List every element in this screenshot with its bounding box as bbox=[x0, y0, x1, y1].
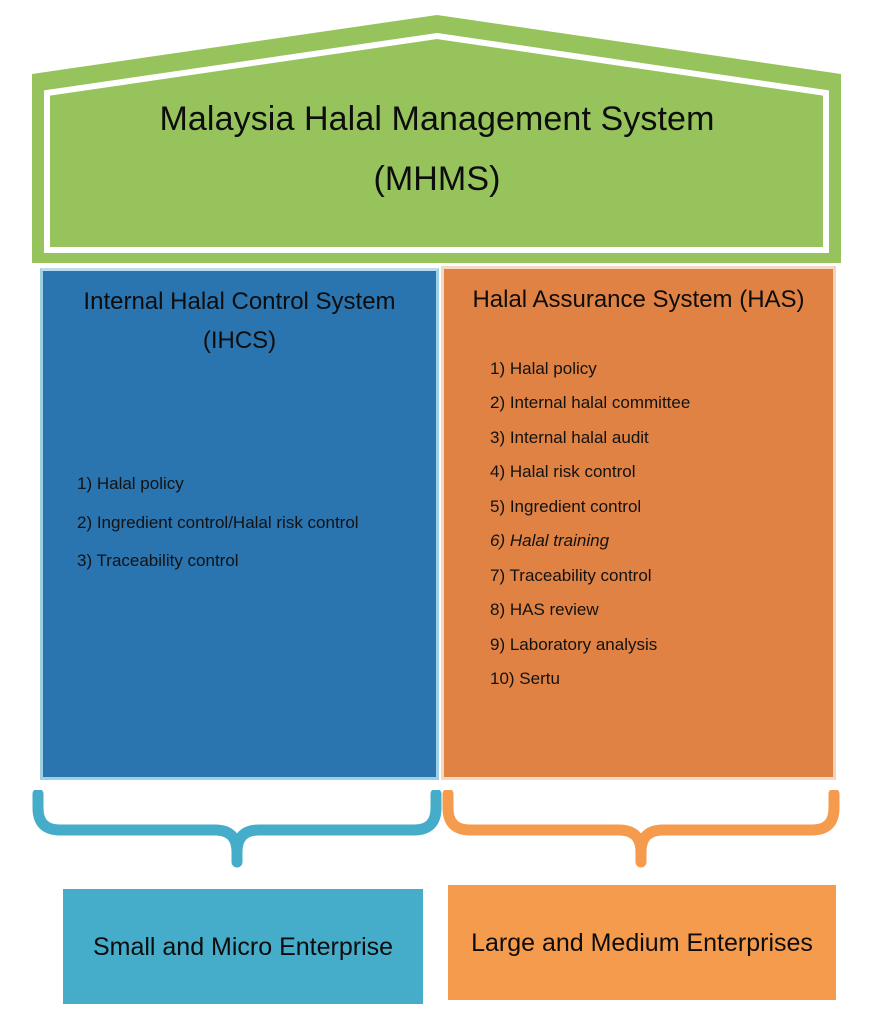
brace-right-icon bbox=[442, 790, 840, 870]
panel-has-title: Halal Assurance System (HAS) bbox=[444, 269, 833, 320]
enterprise-box-large-medium-label: Large and Medium Enterprises bbox=[471, 928, 813, 958]
mhms-title-line1: Malaysia Halal Management System bbox=[60, 90, 814, 150]
panel-ihcs-title-line2: (IHCS) bbox=[57, 322, 422, 361]
mhms-title-block: Malaysia Halal Management System (MHMS) bbox=[60, 90, 814, 209]
panel-ihcs[interactable]: Internal Halal Control System (IHCS) 1) … bbox=[40, 268, 439, 780]
list-item: 6) Halal training bbox=[490, 524, 833, 559]
list-item: 1) Halal policy bbox=[490, 352, 833, 387]
brace-right-svg bbox=[442, 790, 840, 870]
panel-ihcs-title: Internal Halal Control System (IHCS) bbox=[43, 271, 436, 361]
list-item: 2) Internal halal committee bbox=[490, 386, 833, 421]
brace-left-path bbox=[38, 794, 436, 862]
panel-has[interactable]: Halal Assurance System (HAS) 1) Halal po… bbox=[441, 266, 836, 780]
mhms-header-shape: Malaysia Halal Management System (MHMS) bbox=[0, 0, 874, 270]
panel-has-title-line1: Halal Assurance System (HAS) bbox=[458, 281, 819, 320]
mhms-title-line2: (MHMS) bbox=[60, 150, 814, 210]
list-item: 4) Halal risk control bbox=[490, 455, 833, 490]
list-item: 2) Ingredient control/Halal risk control bbox=[77, 504, 436, 543]
list-item: 10) Sertu bbox=[490, 662, 833, 697]
panel-ihcs-item-list: 1) Halal policy 2) Ingredient control/Ha… bbox=[43, 465, 436, 581]
brace-left-svg bbox=[32, 790, 442, 870]
brace-left-icon bbox=[32, 790, 442, 870]
list-item: 3) Traceability control bbox=[77, 542, 436, 581]
list-item: 8) HAS review bbox=[490, 593, 833, 628]
diagram-canvas: Malaysia Halal Management System (MHMS) … bbox=[0, 0, 874, 1024]
list-item: 7) Traceability control bbox=[490, 559, 833, 594]
list-item: 5) Ingredient control bbox=[490, 490, 833, 525]
list-item: 1) Halal policy bbox=[77, 465, 436, 504]
enterprise-box-small-micro-label: Small and Micro Enterprise bbox=[93, 932, 393, 962]
brace-right-path bbox=[448, 794, 834, 862]
panel-has-item-list: 1) Halal policy 2) Internal halal commit… bbox=[444, 352, 833, 697]
list-item: 3) Internal halal audit bbox=[490, 421, 833, 456]
list-item: 9) Laboratory analysis bbox=[490, 628, 833, 663]
panel-ihcs-title-line1: Internal Halal Control System bbox=[57, 283, 422, 322]
enterprise-box-small-micro[interactable]: Small and Micro Enterprise bbox=[63, 889, 423, 1004]
enterprise-box-large-medium[interactable]: Large and Medium Enterprises bbox=[448, 885, 836, 1000]
